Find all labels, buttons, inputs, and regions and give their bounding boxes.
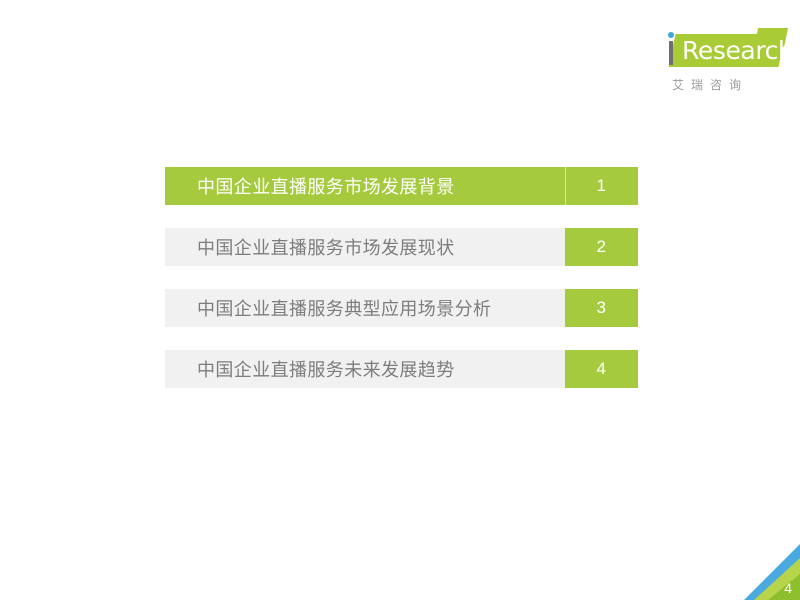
corner-decoration: 4 xyxy=(744,544,800,600)
page-number: 4 xyxy=(784,581,792,595)
logo-mark: Research xyxy=(660,28,786,72)
agenda-row-label: 中国企业直播服务市场发展现状 xyxy=(165,228,565,266)
agenda-row-number: 3 xyxy=(565,289,638,327)
agenda-row-label: 中国企业直播服务典型应用场景分析 xyxy=(165,289,565,327)
agenda-row[interactable]: 中国企业直播服务市场发展背景 1 xyxy=(165,167,638,205)
slide-canvas: Research 艾瑞咨询 中国企业直播服务市场发展背景 1 中国企业直播服务市… xyxy=(0,0,800,600)
logo-subtitle: 艾瑞咨询 xyxy=(672,76,782,93)
agenda-row[interactable]: 中国企业直播服务未来发展趋势 4 xyxy=(165,350,638,388)
agenda-row-number: 2 xyxy=(565,228,638,266)
logo-i-dot-icon xyxy=(668,32,674,38)
iresearch-logo: Research 艾瑞咨询 xyxy=(660,28,786,104)
agenda-row-number: 4 xyxy=(565,350,638,388)
agenda-row-label: 中国企业直播服务未来发展趋势 xyxy=(165,350,565,388)
logo-i-stem-icon xyxy=(669,41,673,65)
agenda-list: 中国企业直播服务市场发展背景 1 中国企业直播服务市场发展现状 2 中国企业直播… xyxy=(165,167,638,388)
logo-wordmark: Research xyxy=(682,36,793,65)
agenda-row-label: 中国企业直播服务市场发展背景 xyxy=(165,167,565,205)
agenda-row[interactable]: 中国企业直播服务市场发展现状 2 xyxy=(165,228,638,266)
agenda-row-number: 1 xyxy=(565,167,638,205)
agenda-row[interactable]: 中国企业直播服务典型应用场景分析 3 xyxy=(165,289,638,327)
